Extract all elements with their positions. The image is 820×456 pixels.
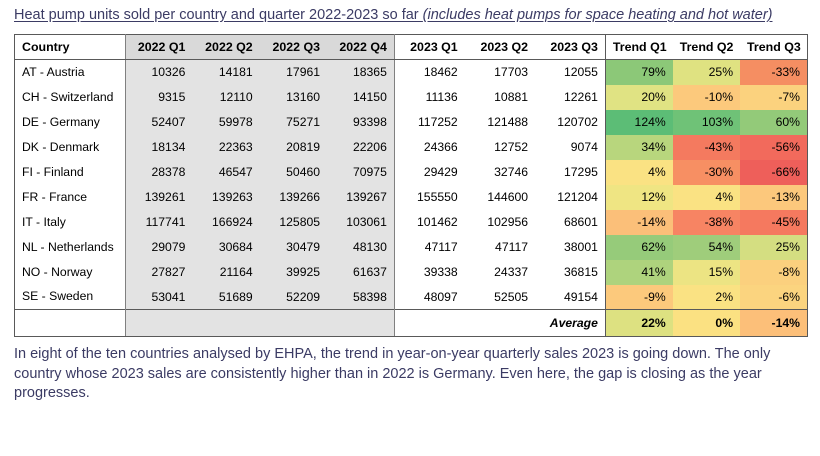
table-header-row: Country 2022 Q1 2022 Q2 2022 Q3 2022 Q4 … [15, 35, 808, 60]
cell-trend-q1: 79% [605, 60, 672, 85]
cell-2022-q3: 125805 [260, 210, 327, 235]
cell-2023-q1: 24366 [394, 135, 464, 160]
table-row: AT - Austria1032614181179611836518462177… [15, 60, 808, 85]
cell-2023-q1: 11136 [394, 85, 464, 110]
column-header-2023-q1: 2023 Q1 [394, 35, 464, 60]
cell-2023-q2: 24337 [465, 260, 535, 285]
cell-trend-q1: -14% [605, 210, 672, 235]
sales-table-container: Country 2022 Q1 2022 Q2 2022 Q3 2022 Q4 … [14, 34, 808, 337]
cell-trend-q2: 103% [673, 110, 740, 135]
table-average-row: Average22%0%-14% [15, 310, 808, 337]
cell-2022-q2: 166924 [192, 210, 259, 235]
cell-2022-q3: 52209 [260, 285, 327, 310]
cell-2022-q2: 22363 [192, 135, 259, 160]
cell-2022-q4: 103061 [327, 210, 394, 235]
cell-2023-q3: 12055 [535, 60, 605, 85]
cell-trend-q2: -10% [673, 85, 740, 110]
cell-2023-q2: 12752 [465, 135, 535, 160]
sales-table: Country 2022 Q1 2022 Q2 2022 Q3 2022 Q4 … [14, 34, 808, 337]
cell-trend-q1: 41% [605, 260, 672, 285]
cell-trend-q3: -7% [740, 85, 807, 110]
cell-trend-q3: -56% [740, 135, 807, 160]
table-row: SE - Sweden53041516895220958398480975250… [15, 285, 808, 310]
column-header-trend-q1: Trend Q1 [605, 35, 672, 60]
cell-2022-q1: 28378 [125, 160, 192, 185]
cell-trend-q2: 2% [673, 285, 740, 310]
cell-trend-q3: -13% [740, 185, 807, 210]
cell-country: FR - France [15, 185, 126, 210]
column-header-2023-q3: 2023 Q3 [535, 35, 605, 60]
cell-2022-q1: 117741 [125, 210, 192, 235]
cell-trend-q1: 62% [605, 235, 672, 260]
cell-2023-q3: 17295 [535, 160, 605, 185]
cell-2022-q1: 139261 [125, 185, 192, 210]
cell-2022-q1: 9315 [125, 85, 192, 110]
table-row: DE - Germany5240759978752719339811725212… [15, 110, 808, 135]
cell-2023-q2: 32746 [465, 160, 535, 185]
cell-country: IT - Italy [15, 210, 126, 235]
cell-trend-q1: 4% [605, 160, 672, 185]
cell-2022-q1: 29079 [125, 235, 192, 260]
cell-2023-q2: 102956 [465, 210, 535, 235]
cell-trend-q1: 20% [605, 85, 672, 110]
cell-trend-q1: 12% [605, 185, 672, 210]
cell-2022-q2: 12110 [192, 85, 259, 110]
cell-trend-q2: -38% [673, 210, 740, 235]
cell-trend-q3: 60% [740, 110, 807, 135]
cell-2023-q3: 49154 [535, 285, 605, 310]
cell-trend-q3: -33% [740, 60, 807, 85]
cell-2023-q2: 52505 [465, 285, 535, 310]
cell-2023-q3: 9074 [535, 135, 605, 160]
cell-2022-q2: 46547 [192, 160, 259, 185]
cell-country: FI - Finland [15, 160, 126, 185]
cell-trend-q3: -45% [740, 210, 807, 235]
cell-2022-q3: 13160 [260, 85, 327, 110]
cell-2022-q3: 39925 [260, 260, 327, 285]
cell-country: NL - Netherlands [15, 235, 126, 260]
cell-2023-q1: 48097 [394, 285, 464, 310]
cell-2022-q1: 18134 [125, 135, 192, 160]
cell-2023-q3: 120702 [535, 110, 605, 135]
cell-trend-q3: -66% [740, 160, 807, 185]
cell-average-2022-q4-blank [327, 310, 394, 337]
column-header-country: Country [15, 35, 126, 60]
cell-trend-q2: 4% [673, 185, 740, 210]
cell-2022-q2: 30684 [192, 235, 259, 260]
cell-2023-q2: 10881 [465, 85, 535, 110]
column-header-2022-q1: 2022 Q1 [125, 35, 192, 60]
cell-2022-q2: 21164 [192, 260, 259, 285]
cell-2023-q1: 117252 [394, 110, 464, 135]
cell-average-2022-q1-blank [125, 310, 192, 337]
cell-2023-q1: 29429 [394, 160, 464, 185]
cell-trend-q1: 124% [605, 110, 672, 135]
cell-2022-q2: 139263 [192, 185, 259, 210]
table-row: FR - France13926113926313926613926715555… [15, 185, 808, 210]
cell-2023-q2: 17703 [465, 60, 535, 85]
cell-trend-q1: 34% [605, 135, 672, 160]
cell-2022-q3: 17961 [260, 60, 327, 85]
cell-trend-q2: -43% [673, 135, 740, 160]
cell-2022-q4: 139267 [327, 185, 394, 210]
cell-2022-q4: 48130 [327, 235, 394, 260]
cell-2023-q2: 121488 [465, 110, 535, 135]
cell-2023-q3: 36815 [535, 260, 605, 285]
cell-2022-q4: 18365 [327, 60, 394, 85]
cell-country: SE - Sweden [15, 285, 126, 310]
cell-average-country-blank [15, 310, 126, 337]
cell-2023-q1: 39338 [394, 260, 464, 285]
cell-2023-q2: 47117 [465, 235, 535, 260]
table-row: NL - Netherlands290793068430479481304711… [15, 235, 808, 260]
cell-trend-q3: -6% [740, 285, 807, 310]
cell-2022-q2: 59978 [192, 110, 259, 135]
cell-2022-q4: 58398 [327, 285, 394, 310]
column-header-2023-q2: 2023 Q2 [465, 35, 535, 60]
table-header: Country 2022 Q1 2022 Q2 2022 Q3 2022 Q4 … [15, 35, 808, 60]
cell-2022-q1: 10326 [125, 60, 192, 85]
cell-2023-q3: 38001 [535, 235, 605, 260]
cell-2023-q3: 68601 [535, 210, 605, 235]
average-label: Average [535, 310, 605, 337]
cell-2022-q1: 27827 [125, 260, 192, 285]
cell-average-2023-q1-blank [394, 310, 464, 337]
cell-2023-q1: 101462 [394, 210, 464, 235]
cell-2022-q3: 30479 [260, 235, 327, 260]
table-row: CH - Switzerland931512110131601415011136… [15, 85, 808, 110]
cell-2022-q2: 51689 [192, 285, 259, 310]
column-header-trend-q2: Trend Q2 [673, 35, 740, 60]
cell-2022-q4: 93398 [327, 110, 394, 135]
page-title-subtitle: (includes heat pumps for space heating a… [423, 7, 773, 23]
cell-2023-q3: 121204 [535, 185, 605, 210]
page-title-main: Heat pump units sold per country and qua… [14, 7, 423, 23]
cell-average-2022-q2-blank [192, 310, 259, 337]
cell-trend-q2: 54% [673, 235, 740, 260]
cell-country: AT - Austria [15, 60, 126, 85]
cell-2023-q3: 12261 [535, 85, 605, 110]
cell-2023-q1: 155550 [394, 185, 464, 210]
cell-country: DE - Germany [15, 110, 126, 135]
cell-2022-q2: 14181 [192, 60, 259, 85]
cell-trend-q2: 25% [673, 60, 740, 85]
page-title: Heat pump units sold per country and qua… [0, 0, 820, 25]
cell-trend-q3: -8% [740, 260, 807, 285]
cell-average-2022-q3-blank [260, 310, 327, 337]
cell-average-2023-q2-blank [465, 310, 535, 337]
table-row: FI - Finland2837846547504607097529429327… [15, 160, 808, 185]
cell-2022-q4: 22206 [327, 135, 394, 160]
cell-2022-q4: 70975 [327, 160, 394, 185]
cell-average-trend-q1: 22% [605, 310, 672, 337]
column-header-2022-q4: 2022 Q4 [327, 35, 394, 60]
cell-2022-q3: 75271 [260, 110, 327, 135]
cell-2022-q3: 50460 [260, 160, 327, 185]
cell-country: NO - Norway [15, 260, 126, 285]
cell-2022-q3: 139266 [260, 185, 327, 210]
cell-average-trend-q2: 0% [673, 310, 740, 337]
table-row: IT - Italy117741166924125805103061101462… [15, 210, 808, 235]
cell-2022-q1: 53041 [125, 285, 192, 310]
cell-trend-q3: 25% [740, 235, 807, 260]
table-body: AT - Austria1032614181179611836518462177… [15, 60, 808, 337]
column-header-2022-q3: 2022 Q3 [260, 35, 327, 60]
cell-average-trend-q3: -14% [740, 310, 807, 337]
cell-2022-q4: 14150 [327, 85, 394, 110]
cell-trend-q1: -9% [605, 285, 672, 310]
cell-2023-q1: 18462 [394, 60, 464, 85]
cell-2023-q2: 144600 [465, 185, 535, 210]
cell-2022-q4: 61637 [327, 260, 394, 285]
cell-2022-q1: 52407 [125, 110, 192, 135]
column-header-2022-q2: 2022 Q2 [192, 35, 259, 60]
cell-trend-q2: -30% [673, 160, 740, 185]
cell-2023-q1: 47117 [394, 235, 464, 260]
column-header-trend-q3: Trend Q3 [740, 35, 807, 60]
cell-2022-q3: 20819 [260, 135, 327, 160]
table-caption: In eight of the ten countries analysed b… [14, 345, 806, 404]
cell-trend-q2: 15% [673, 260, 740, 285]
cell-country: CH - Switzerland [15, 85, 126, 110]
table-row: NO - Norway27827211643992561637393382433… [15, 260, 808, 285]
cell-country: DK - Denmark [15, 135, 126, 160]
table-row: DK - Denmark1813422363208192220624366127… [15, 135, 808, 160]
